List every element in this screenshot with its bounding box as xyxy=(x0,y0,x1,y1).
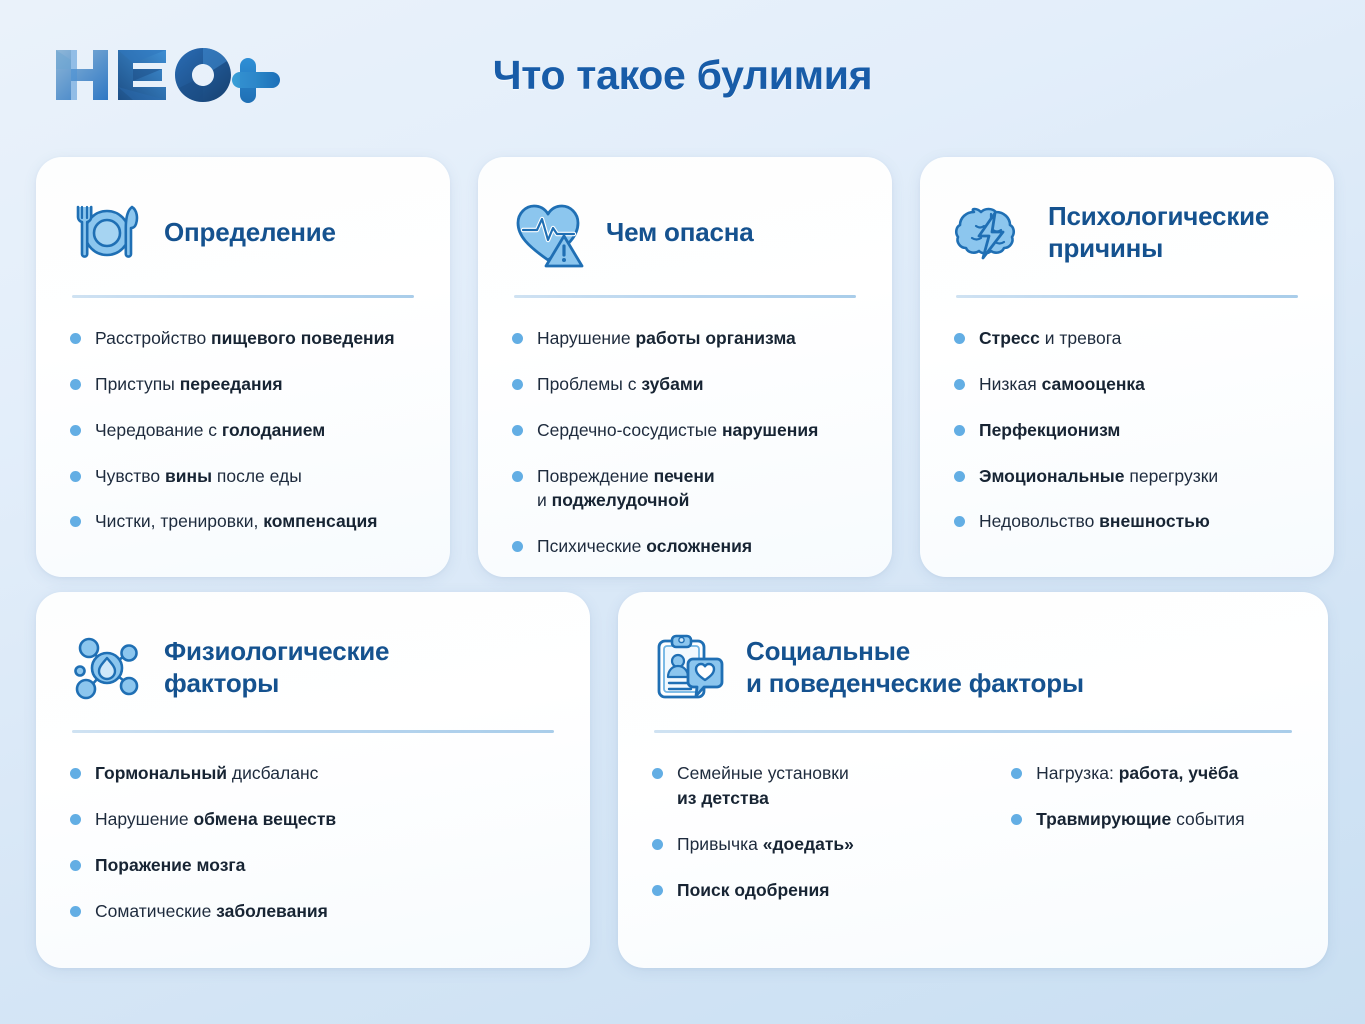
bullet-dot-icon xyxy=(652,768,663,779)
bullet-dot-icon xyxy=(70,906,81,917)
card-psychological: Психологическиепричины Стресс и тревогаН… xyxy=(920,157,1334,577)
bullet-dot-icon xyxy=(1011,814,1022,825)
bullet-dot-icon xyxy=(652,839,663,850)
bullet-dot-icon xyxy=(70,379,81,390)
bullet-dot-icon xyxy=(652,885,663,896)
bullet-item: Нарушение работы организма xyxy=(512,326,858,351)
bullet-dot-icon xyxy=(512,425,523,436)
card-header: Чем опасна xyxy=(512,187,858,279)
bullet-text: Недовольство внешностью xyxy=(979,509,1210,534)
bullet-item: Семейные установкииз детства xyxy=(652,761,963,811)
bullet-item: Проблемы с зубами xyxy=(512,372,858,397)
bullet-dot-icon xyxy=(954,379,965,390)
card-social: Социальныеи поведенческие факторы Семейн… xyxy=(618,592,1328,968)
bullet-item: Приступы переедания xyxy=(70,372,416,397)
bullet-item: Привычка «доедать» xyxy=(652,832,963,857)
bullet-item: Поражение мозга xyxy=(70,853,556,878)
card-header: Физиологическиефакторы xyxy=(70,622,556,714)
bullet-dot-icon xyxy=(954,516,965,527)
bullet-item: Нагрузка: работа, учёба xyxy=(1011,761,1294,786)
cards-row-bottom: Физиологическиефакторы Гормональный дисб… xyxy=(36,592,1328,968)
bullet-item: Поиск одобрения xyxy=(652,878,963,903)
bullet-item: Сердечно-сосудистые нарушения xyxy=(512,418,858,443)
bullet-item: Соматические заболевания xyxy=(70,899,556,924)
bullet-list-psychological: Стресс и тревогаНизкая самооценкаПерфекц… xyxy=(954,326,1300,534)
bullet-dot-icon xyxy=(1011,768,1022,779)
bullet-text: Перфекционизм xyxy=(979,418,1120,443)
bullet-text: Поиск одобрения xyxy=(677,878,829,903)
bullet-dot-icon xyxy=(954,333,965,344)
bullet-item: Чередование с голоданием xyxy=(70,418,416,443)
bullet-text: Нагрузка: работа, учёба xyxy=(1036,761,1238,786)
bullet-list-definition: Расстройство пищевого поведенияПриступы … xyxy=(70,326,416,534)
social-bullet-columns: Семейные установкииз детстваПривычка «до… xyxy=(652,761,1294,902)
plate-cutlery-icon xyxy=(70,196,144,270)
bullet-text: Проблемы с зубами xyxy=(537,372,704,397)
card-title: Физиологическиефакторы xyxy=(164,636,389,699)
card-divider xyxy=(956,295,1298,298)
page-header: Что такое булимия xyxy=(0,0,1365,150)
bullet-dot-icon xyxy=(70,814,81,825)
bullet-dot-icon xyxy=(512,379,523,390)
bullet-dot-icon xyxy=(512,333,523,344)
bullet-dot-icon xyxy=(70,425,81,436)
card-divider xyxy=(514,295,856,298)
card-header: Психологическиепричины xyxy=(954,187,1300,279)
bullet-text: Сердечно-сосудистые нарушения xyxy=(537,418,818,443)
bullet-item: Недовольство внешностью xyxy=(954,509,1300,534)
bullet-dot-icon xyxy=(70,768,81,779)
bullet-text: Психические осложнения xyxy=(537,534,752,559)
bullet-item: Чистки, тренировки, компенсация xyxy=(70,509,416,534)
bullet-item: Стресс и тревога xyxy=(954,326,1300,351)
card-physiological: Физиологическиефакторы Гормональный дисб… xyxy=(36,592,590,968)
bullet-dot-icon xyxy=(70,516,81,527)
clipboard-person-heart-icon xyxy=(652,631,726,705)
page-title: Что такое булимия xyxy=(0,52,1365,99)
card-divider xyxy=(654,730,1292,733)
bullet-list-social-right: Нагрузка: работа, учёбаТравмирующие собы… xyxy=(1011,761,1294,902)
heart-pulse-warning-icon xyxy=(512,196,586,270)
bullet-text: Стресс и тревога xyxy=(979,326,1121,351)
card-title: Чем опасна xyxy=(606,217,754,249)
bullet-text: Повреждение печении поджелудочной xyxy=(537,464,715,514)
bullet-list-social-left: Семейные установкииз детстваПривычка «до… xyxy=(652,761,963,902)
card-title: Психологическиепричины xyxy=(1048,201,1269,264)
bullet-text: Травмирующие события xyxy=(1036,807,1245,832)
card-title: Определение xyxy=(164,217,336,249)
bullet-text: Привычка «доедать» xyxy=(677,832,854,857)
bullet-list-danger: Нарушение работы организмаПроблемы с зуб… xyxy=(512,326,858,559)
bullet-text: Семейные установкииз детства xyxy=(677,761,849,811)
card-title: Социальныеи поведенческие факторы xyxy=(746,636,1084,699)
bullet-text: Чувство вины после еды xyxy=(95,464,302,489)
bullet-dot-icon xyxy=(512,541,523,552)
bullet-text: Расстройство пищевого поведения xyxy=(95,326,395,351)
molecule-hormone-icon xyxy=(70,631,144,705)
bullet-item: Нарушение обмена веществ xyxy=(70,807,556,832)
card-definition: Определение Расстройство пищевого поведе… xyxy=(36,157,450,577)
cards-row-top: Определение Расстройство пищевого поведе… xyxy=(36,157,1334,577)
card-divider xyxy=(72,730,554,733)
bullet-item: Гормональный дисбаланс xyxy=(70,761,556,786)
bullet-text: Нарушение обмена веществ xyxy=(95,807,336,832)
bullet-text: Эмоциональные перегрузки xyxy=(979,464,1218,489)
bullet-text: Поражение мозга xyxy=(95,853,245,878)
bullet-item: Эмоциональные перегрузки xyxy=(954,464,1300,489)
bullet-text: Приступы переедания xyxy=(95,372,283,397)
bullet-dot-icon xyxy=(70,860,81,871)
card-header: Определение xyxy=(70,187,416,279)
bullet-text: Нарушение работы организма xyxy=(537,326,796,351)
card-header: Социальныеи поведенческие факторы xyxy=(652,622,1294,714)
bullet-list-physiological: Гормональный дисбалансНарушение обмена в… xyxy=(70,761,556,923)
card-divider xyxy=(72,295,414,298)
bullet-dot-icon xyxy=(512,471,523,482)
bullet-dot-icon xyxy=(70,333,81,344)
bullet-item: Повреждение печении поджелудочной xyxy=(512,464,858,514)
bullet-item: Перфекционизм xyxy=(954,418,1300,443)
bullet-dot-icon xyxy=(954,471,965,482)
bullet-item: Психические осложнения xyxy=(512,534,858,559)
bullet-item: Низкая самооценка xyxy=(954,372,1300,397)
card-danger: Чем опасна Нарушение работы организмаПро… xyxy=(478,157,892,577)
bullet-text: Чередование с голоданием xyxy=(95,418,325,443)
bullet-dot-icon xyxy=(70,471,81,482)
bullet-text: Гормональный дисбаланс xyxy=(95,761,318,786)
bullet-text: Низкая самооценка xyxy=(979,372,1145,397)
bullet-dot-icon xyxy=(954,425,965,436)
bullet-text: Соматические заболевания xyxy=(95,899,328,924)
brain-lightning-icon xyxy=(954,196,1028,270)
bullet-item: Чувство вины после еды xyxy=(70,464,416,489)
bullet-text: Чистки, тренировки, компенсация xyxy=(95,509,377,534)
bullet-item: Травмирующие события xyxy=(1011,807,1294,832)
bullet-item: Расстройство пищевого поведения xyxy=(70,326,416,351)
